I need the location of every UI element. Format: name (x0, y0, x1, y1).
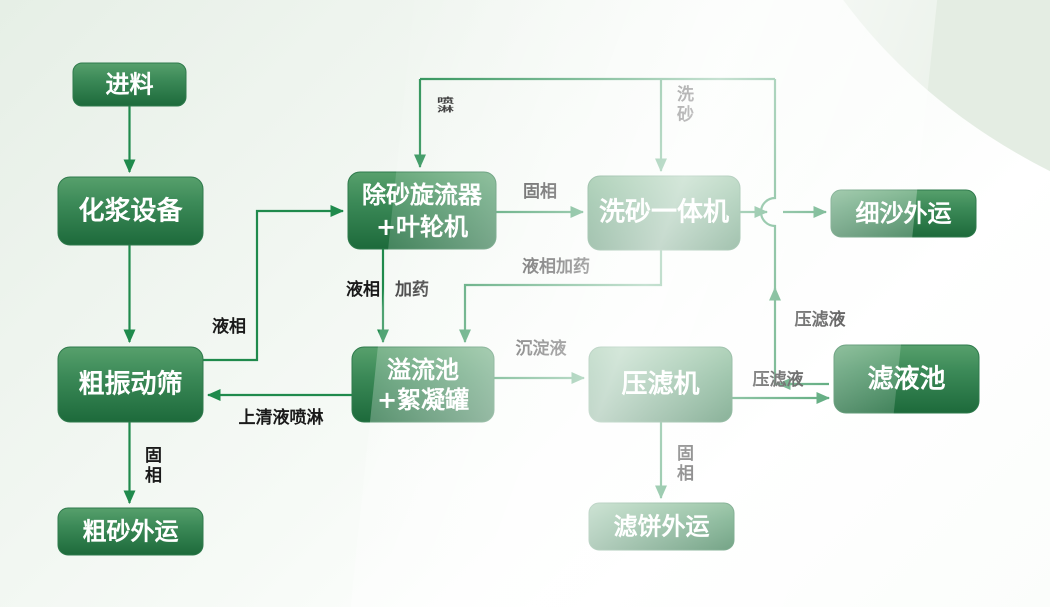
node-coarse-sand-shipout[interactable]: 粗砂外运 (58, 508, 203, 555)
node-sand-washing-machine-label: 洗砂一体机 (599, 198, 729, 228)
process-flow-diagram: 进料 化浆设备 粗振动筛 粗砂外运 除砂旋流器 +叶轮机 洗砂一体机 (0, 0, 1050, 607)
edge-label-solid-phase-desander: 固相 (523, 181, 557, 202)
node-overflow-tank-label-line2: +絮凝罐 (377, 386, 469, 414)
node-pulping-equipment-label: 化浆设备 (78, 196, 183, 227)
node-sand-washing-machine[interactable]: 洗砂一体机 (588, 176, 740, 250)
node-desander-cyclone[interactable]: 除砂旋流器 +叶轮机 (348, 172, 496, 249)
edge-label-supernatant-spray: 上清液喷淋 (239, 407, 324, 428)
edge-label-dosing-desander: 加药 (394, 279, 429, 300)
node-fine-sand-shipout[interactable]: 细沙外运 (831, 190, 976, 237)
edge-label-solid-phase-sieve: 固相 (141, 446, 162, 486)
edge-label-solid-phase-press: 固相 (673, 444, 694, 484)
node-coarse-vibrating-screen[interactable]: 粗振动筛 (58, 347, 203, 422)
edge-label-spray-char1: 喷淋 (433, 96, 454, 113)
node-overflow-tank-label-line1: 溢流池 (387, 356, 459, 384)
node-filter-press-label: 压滤机 (621, 370, 699, 400)
node-filtrate-pit-label: 滤液池 (867, 365, 945, 395)
node-fine-sand-shipout-label: 细沙外运 (856, 200, 952, 228)
edge-label-sediment: 沉淀液 (516, 338, 567, 359)
edge-label-press-liquid-lower: 压滤液 (753, 369, 804, 390)
edge-label-liquid-phase-desander: 液相 (346, 279, 380, 300)
edge-label-liquid-phase-sieve: 液相 (212, 316, 246, 337)
node-coarse-vibrating-screen-label: 粗振动筛 (78, 369, 182, 400)
node-desander-cyclone-label-line2: +叶轮机 (376, 213, 468, 241)
node-filter-press[interactable]: 压滤机 (589, 347, 732, 422)
node-filter-cake-shipout[interactable]: 滤饼外运 (589, 503, 734, 550)
edge-label-liquid-dosing-washer: 液相加药 (522, 256, 590, 277)
edge-filtrate-riser (761, 79, 775, 290)
flowchart-canvas: 进料 化浆设备 粗振动筛 粗砂外运 除砂旋流器 +叶轮机 洗砂一体机 (0, 0, 1050, 607)
node-feed-label: 进料 (106, 71, 154, 99)
edge-coarse-sieve-to-desander (203, 211, 343, 360)
node-overflow-tank[interactable]: 溢流池 +絮凝罐 (352, 347, 494, 422)
node-coarse-sand-shipout-label: 粗砂外运 (83, 518, 179, 546)
node-desander-cyclone-label-line1: 除砂旋流器 (362, 181, 483, 209)
edge-label-press-liquid-upper: 压滤液 (795, 309, 846, 330)
node-pulping-equipment[interactable]: 化浆设备 (58, 177, 203, 245)
node-filtrate-pit[interactable]: 滤液池 (834, 345, 979, 413)
edge-label-wash-sand: 洗砂 (673, 84, 694, 125)
node-filter-cake-shipout-label: 滤饼外运 (614, 513, 710, 541)
node-feed[interactable]: 进料 (73, 63, 186, 106)
